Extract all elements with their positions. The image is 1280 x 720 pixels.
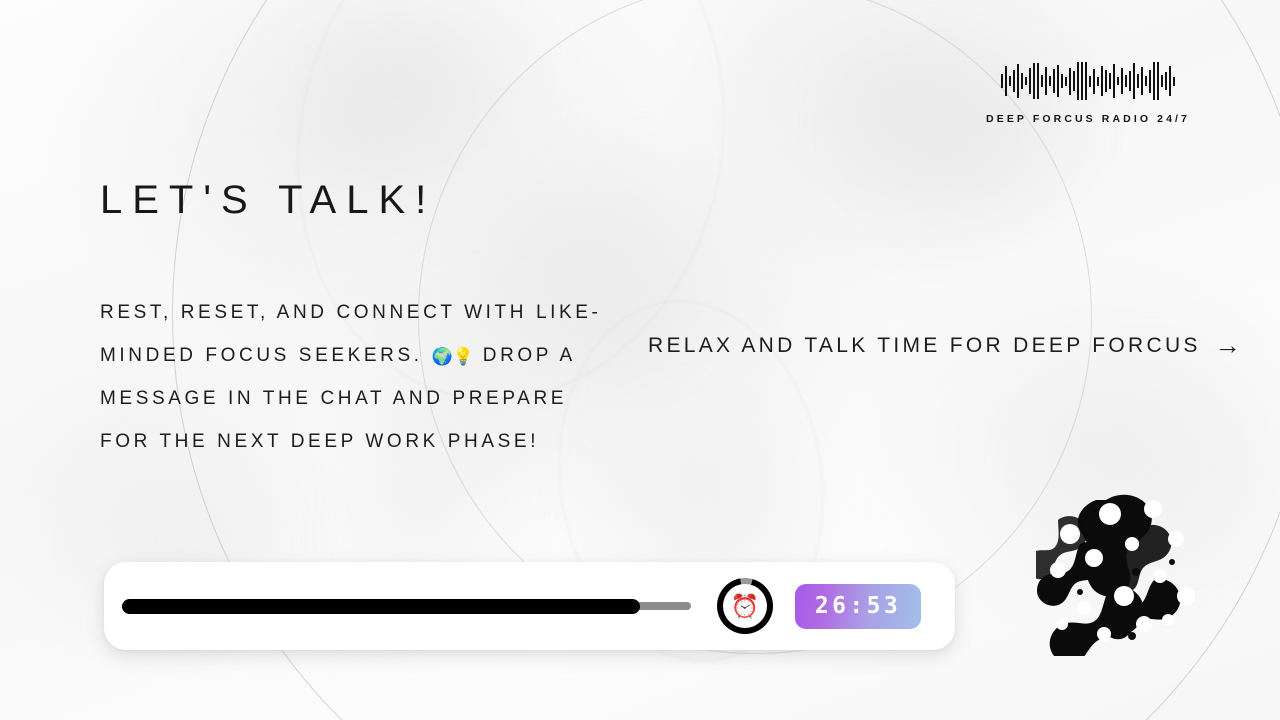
waveform-bar xyxy=(1153,62,1155,100)
waveform-bar xyxy=(1021,73,1023,89)
waveform-bar xyxy=(1065,77,1067,86)
arrow-right-icon: → xyxy=(1215,332,1241,358)
waveform-bar xyxy=(1097,77,1099,86)
waveform-bar xyxy=(1005,66,1007,96)
waveform-bar xyxy=(1113,64,1115,98)
waveform-bar xyxy=(1109,73,1111,89)
media-player-bar: ⏰ 26:53 xyxy=(104,562,955,650)
waveform-bar xyxy=(1009,76,1011,86)
timer-value: 26:53 xyxy=(815,593,901,619)
waveform-bar xyxy=(1093,69,1095,94)
waveform-bar xyxy=(1001,74,1003,88)
globe-icon: 🌍 xyxy=(432,347,453,366)
slide-canvas: DEEP FORCUS RADIO 24/7 LET'S TALK! REST,… xyxy=(0,0,1280,720)
station-logo: DEEP FORCUS RADIO 24/7 xyxy=(986,58,1190,125)
station-logo-caption: DEEP FORCUS RADIO 24/7 xyxy=(986,113,1190,125)
waveform-bar xyxy=(1133,63,1135,99)
lightbulb-icon: 💡 xyxy=(453,347,474,366)
progress-fill xyxy=(122,599,640,614)
waveform-bar xyxy=(1025,77,1027,85)
waveform-bar xyxy=(1013,70,1015,92)
waveform-bar xyxy=(1125,75,1127,87)
waveform-bar xyxy=(1053,69,1055,93)
waveform-bar xyxy=(1057,65,1059,97)
waveform-bar xyxy=(1101,66,1103,96)
waveform-bar xyxy=(1157,62,1159,100)
alarm-clock-icon: ⏰ xyxy=(717,578,773,634)
waveform-bar xyxy=(1077,62,1079,100)
waveform-bar xyxy=(1165,72,1167,90)
waveform-bar xyxy=(1129,71,1131,91)
waveform-bar xyxy=(1161,75,1163,87)
alarm-timer-button[interactable]: ⏰ xyxy=(717,578,773,634)
waveform-bar xyxy=(1089,76,1091,87)
audio-waveform-icon xyxy=(1001,58,1175,104)
waveform-bar xyxy=(1169,66,1171,96)
waveform-bar xyxy=(1173,77,1175,86)
page-title: LET'S TALK! xyxy=(100,178,436,223)
waveform-bar xyxy=(1033,63,1035,99)
timer-badge[interactable]: 26:53 xyxy=(795,584,921,629)
waveform-bar xyxy=(1149,70,1151,93)
abstract-blob-ornament xyxy=(1036,484,1220,656)
waveform-bar xyxy=(1121,68,1123,94)
waveform-bar xyxy=(1073,71,1075,91)
hero-tagline-label: RELAX AND TALK TIME FOR DEEP FORCUS xyxy=(648,334,1201,358)
waveform-bar xyxy=(1141,67,1143,95)
waveform-bar xyxy=(1081,62,1083,100)
progress-slider[interactable] xyxy=(122,591,691,621)
waveform-bar xyxy=(1037,63,1039,99)
waveform-bar xyxy=(1117,77,1119,85)
waveform-bar xyxy=(1145,76,1147,86)
hero-tagline: RELAX AND TALK TIME FOR DEEP FORCUS → xyxy=(648,333,1241,359)
waveform-bar xyxy=(1029,68,1031,94)
waveform-bar xyxy=(1041,75,1043,87)
waveform-bar xyxy=(1105,70,1107,92)
hero-body-copy: REST, RESET, AND CONNECT WITH LIKE-MINDE… xyxy=(100,292,620,463)
waveform-bar xyxy=(1061,74,1063,88)
waveform-bar xyxy=(1017,64,1019,98)
waveform-bar xyxy=(1085,62,1087,100)
waveform-bar xyxy=(1069,68,1071,95)
waveform-bar xyxy=(1049,76,1051,86)
waveform-bar xyxy=(1137,74,1139,88)
waveform-bar xyxy=(1045,67,1047,95)
